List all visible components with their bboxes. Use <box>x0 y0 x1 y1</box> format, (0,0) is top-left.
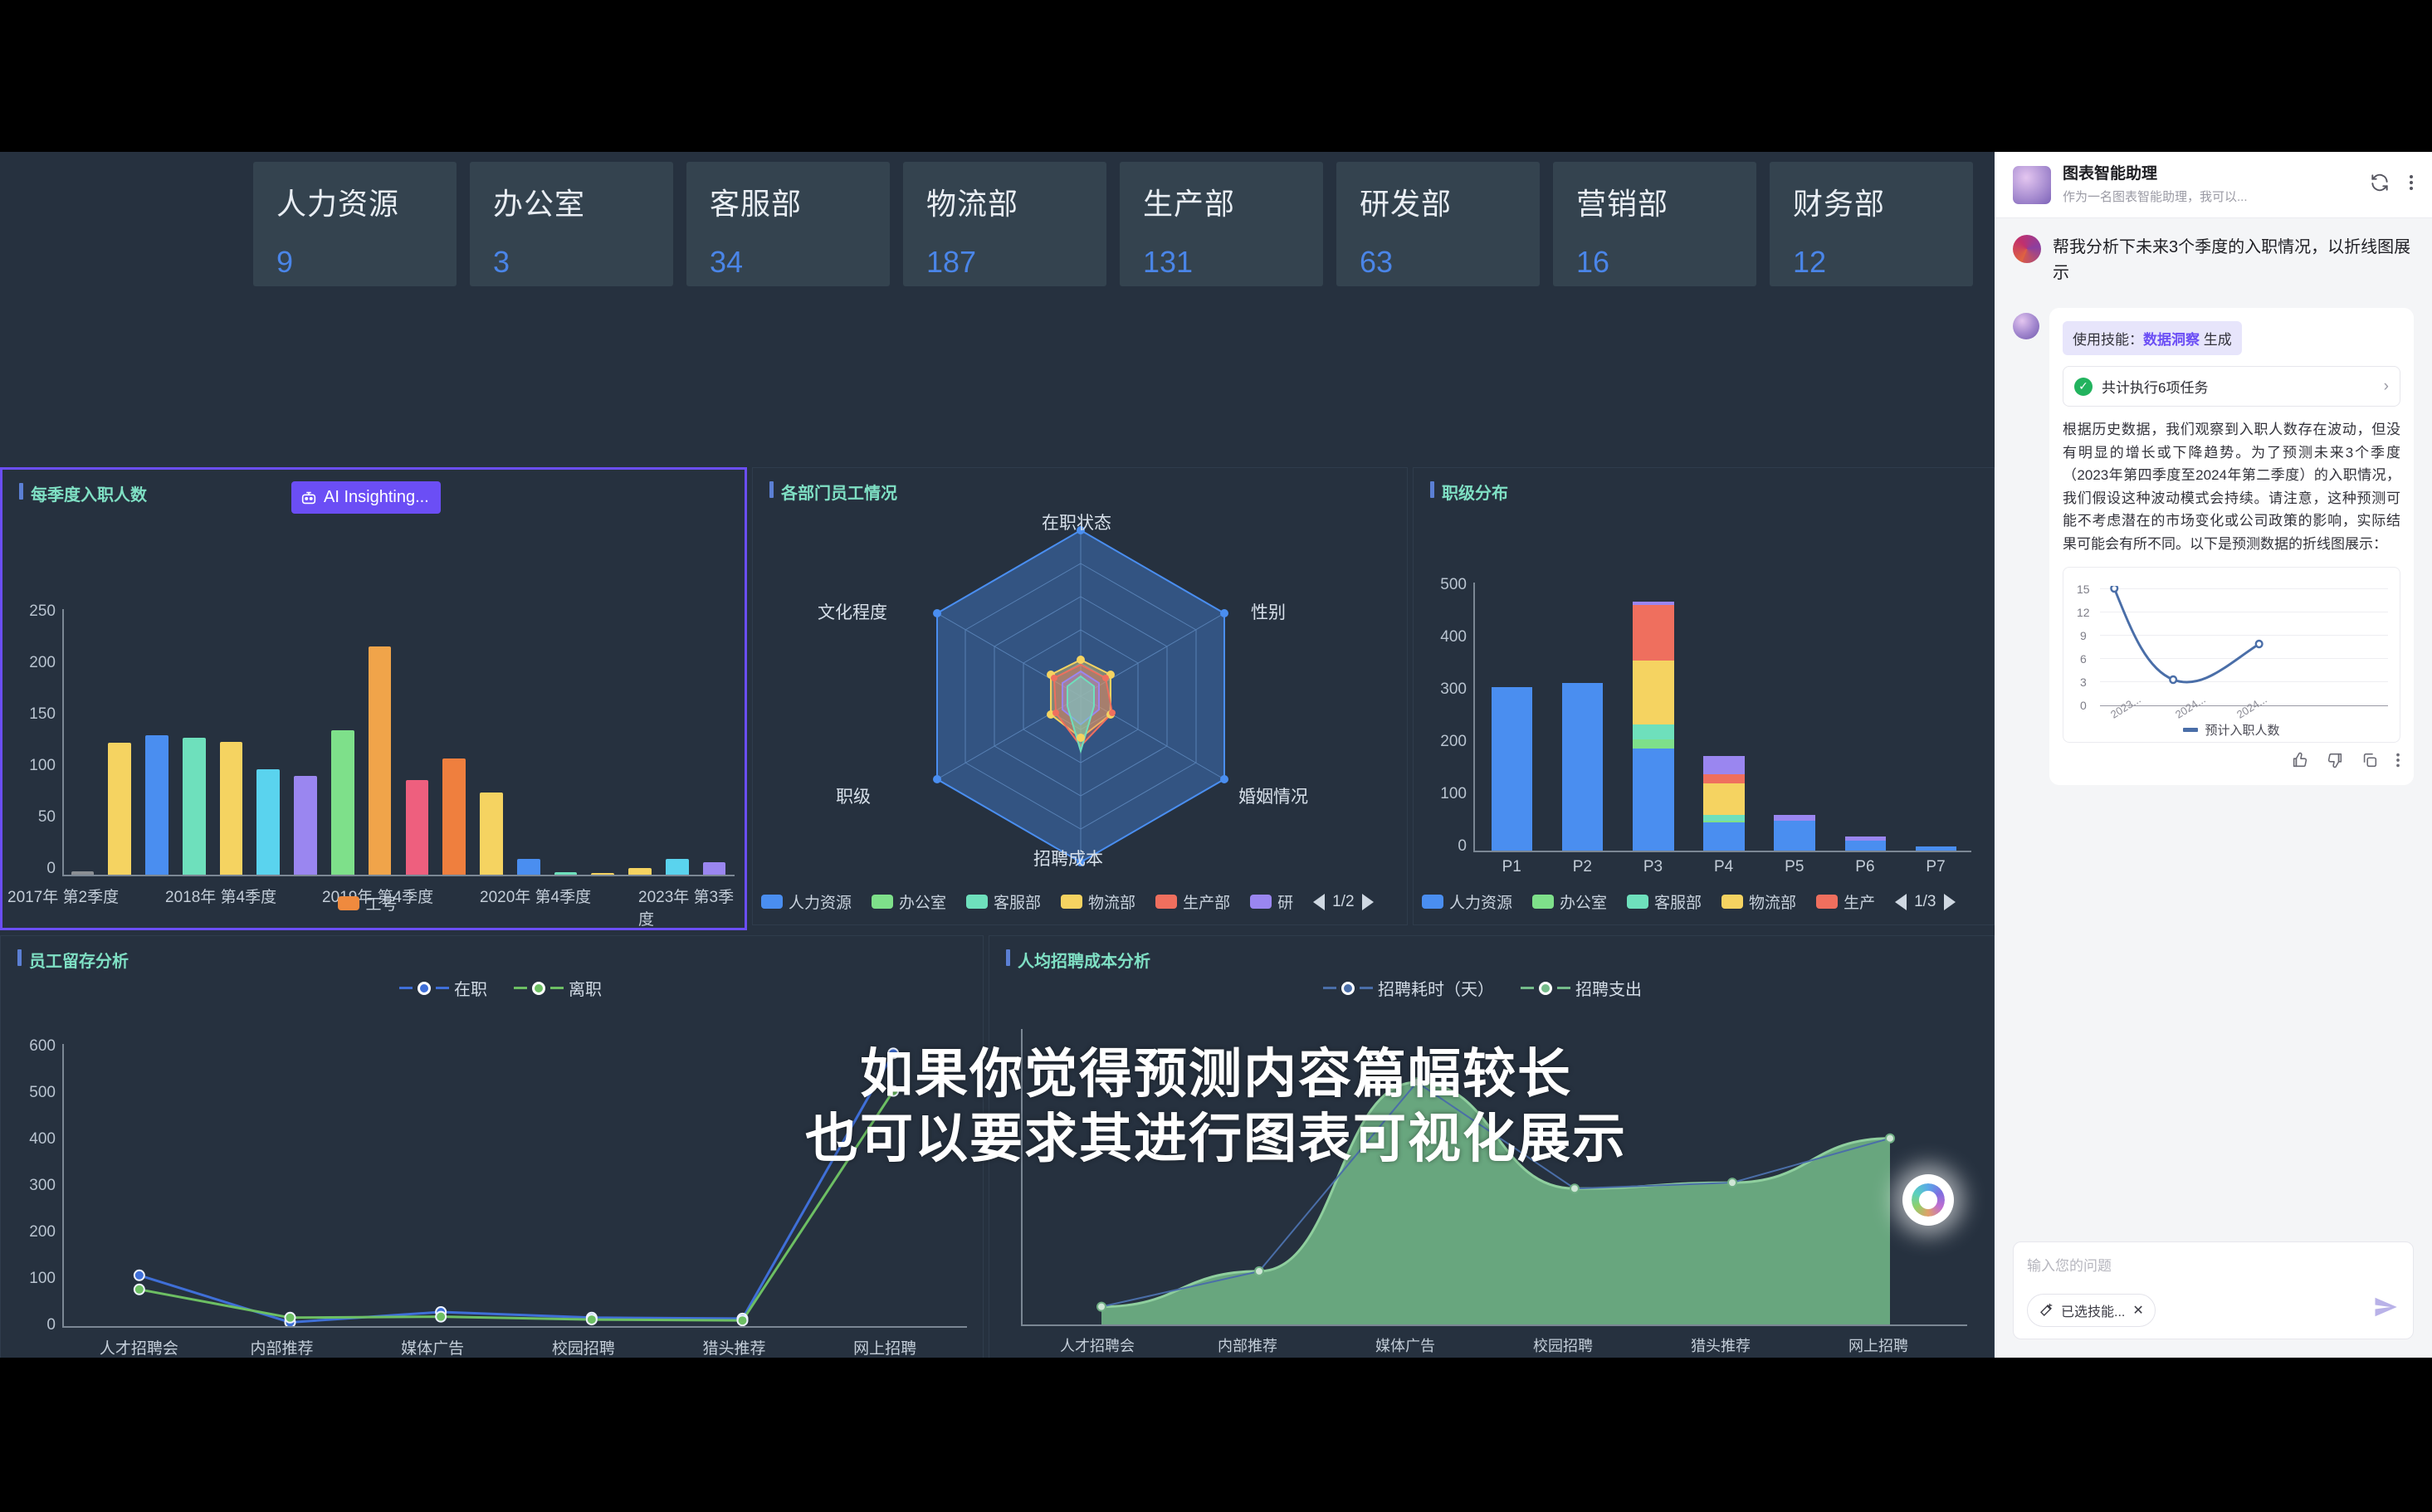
legend-swatch <box>1816 895 1838 909</box>
legend-item[interactable]: 客服部 <box>1627 890 1702 913</box>
legend-dash <box>514 987 527 989</box>
bar[interactable] <box>554 872 578 875</box>
user-message-text: 帮我分析下未来3个季度的入职情况，以折线图展示 <box>2053 235 2414 286</box>
legend-dot <box>1539 982 1552 995</box>
stacked-bar-segment[interactable] <box>1562 683 1603 851</box>
x-tick: 人才招聘会 <box>100 1336 178 1358</box>
legend-swatch <box>2183 728 2198 732</box>
skill-tag: 使用技能：数据洞察 生成 <box>2063 321 2242 355</box>
y-tick: 300 <box>9 1177 56 1195</box>
legend-item[interactable]: 离职 <box>514 976 602 1000</box>
legend-swatch <box>1627 895 1648 909</box>
stacked-bar-segment[interactable] <box>1845 836 1886 841</box>
panel-quarterly-hires[interactable]: 每季度入职人数 AI Insighting... 250 200 150 100… <box>0 467 747 930</box>
y-tick: 6 <box>2080 652 2087 666</box>
panel-title: 人均招聘成本分析 <box>1006 948 1150 972</box>
letterbox-bottom <box>0 1358 2432 1512</box>
legend-label: 物流部 <box>1749 890 1796 913</box>
legend-label: 办公室 <box>899 890 946 913</box>
legend-label: 生产 <box>1844 890 1875 913</box>
y-tick: 200 <box>1422 733 1467 751</box>
bar[interactable] <box>108 743 131 875</box>
legend-item[interactable]: 客服部 <box>966 890 1041 913</box>
x-tick: 网上招聘 <box>853 1336 916 1358</box>
x-axis <box>1473 851 1971 852</box>
stacked-bar-segment[interactable] <box>1845 841 1886 851</box>
bar[interactable] <box>480 793 503 875</box>
y-tick: 250 <box>17 602 56 621</box>
bar[interactable] <box>591 873 614 875</box>
x-tick: P5 <box>1785 858 1804 876</box>
kpi-label: 客服部 <box>710 180 890 223</box>
bar[interactable] <box>183 738 206 875</box>
legend-item[interactable]: 招聘支出 <box>1521 976 1642 1000</box>
radar-axis-label: 职级 <box>836 783 871 808</box>
kpi-card-finance[interactable]: 财务部 12 <box>1770 162 1973 286</box>
bar[interactable] <box>71 871 95 875</box>
x-tick: P4 <box>1714 858 1733 876</box>
legend-swatch <box>1155 895 1177 909</box>
thumbs-up-icon[interactable] <box>2291 751 2309 773</box>
y-tick: 200 <box>9 1223 56 1241</box>
kpi-value: 63 <box>1360 245 1540 280</box>
stacked-bar-group <box>1477 583 1971 851</box>
legend-swatch <box>1532 895 1554 909</box>
copy-icon[interactable] <box>2361 751 2379 773</box>
kpi-value: 131 <box>1143 245 1323 280</box>
y-tick: 15 <box>2077 583 2090 596</box>
y-tick: 0 <box>2080 699 2087 712</box>
x-tick: 人才招聘会 <box>1060 1334 1135 1356</box>
radar-axis-label: 文化程度 <box>818 599 887 624</box>
skill-prefix: 使用技能： <box>2073 332 2143 348</box>
prev-page-icon[interactable] <box>1313 894 1325 910</box>
x-tick: 内部推荐 <box>1218 1334 1277 1356</box>
legend-dot <box>1341 982 1355 995</box>
x-tick: P7 <box>1926 858 1945 876</box>
kpi-card-row: 人力资源 9 办公室 3 客服部 34 物流部 187 生产部 131 研发部 … <box>0 162 1995 295</box>
kpi-value: 12 <box>1793 245 1973 280</box>
radar-chart <box>753 493 1409 883</box>
radar-axis-label: 在职状态 <box>1042 510 1111 534</box>
legend-dash <box>1360 987 1373 989</box>
ai-assistant-panel: 图表智能助理 作为一名图表智能助理，我可以... <box>1995 152 2432 1358</box>
check-icon: ✓ <box>2074 378 2093 396</box>
x-tick: 媒体广告 <box>401 1336 464 1358</box>
legend-label: 人力资源 <box>1449 890 1512 913</box>
user-message: 帮我分析下未来3个季度的入职情况，以折线图展示 <box>2013 235 2414 286</box>
selected-skill-chip[interactable]: 已选技能... ✕ <box>2027 1294 2156 1327</box>
legend-dash <box>399 987 413 989</box>
x-tick: 网上招聘 <box>1848 1334 1908 1356</box>
page-indicator: 1/3 <box>1914 893 1936 911</box>
stacked-bar-segment[interactable] <box>1633 605 1673 661</box>
legend-label: 预计入职人数 <box>2205 721 2279 739</box>
kpi-label: 财务部 <box>1793 180 1973 223</box>
kpi-card-office[interactable]: 办公室 3 <box>470 162 673 286</box>
kpi-value: 16 <box>1576 245 1756 280</box>
legend-item[interactable]: 工号 <box>338 892 397 915</box>
dashboard-canvas: 人力资源 9 办公室 3 客服部 34 物流部 187 生产部 131 研发部 … <box>0 152 1995 1358</box>
legend-dash <box>1521 987 1534 989</box>
kpi-value: 9 <box>276 245 457 280</box>
kpi-value: 187 <box>926 245 1106 280</box>
kpi-value: 3 <box>493 245 673 280</box>
legend-label: 人力资源 <box>789 890 852 913</box>
y-tick: 0 <box>1422 837 1467 856</box>
ai-insighting-badge[interactable]: AI Insighting... <box>291 481 441 514</box>
kpi-label: 人力资源 <box>276 180 457 223</box>
magic-wand-icon <box>2039 1303 2054 1318</box>
kpi-value: 34 <box>710 245 890 280</box>
y-tick: 12 <box>2077 606 2090 619</box>
radar-axis-label: 性别 <box>1251 599 1286 624</box>
legend-swatch <box>1721 895 1743 909</box>
legend-cost: 招聘耗时（天） 招聘支出 <box>989 976 1994 1000</box>
page-indicator: 1/2 <box>1332 893 1354 911</box>
x-tick: P3 <box>1643 858 1663 876</box>
bar[interactable] <box>442 758 466 875</box>
bar[interactable] <box>628 868 652 875</box>
kpi-label: 研发部 <box>1360 180 1540 223</box>
chat-input-placeholder[interactable]: 输入您的问题 <box>2027 1254 2400 1275</box>
stacked-bar-segment[interactable] <box>1633 739 1673 749</box>
legend-item[interactable]: 物流部 <box>1061 890 1135 913</box>
y-tick: 3 <box>2080 676 2087 689</box>
x-axis <box>62 875 735 876</box>
stacked-bar-segment[interactable] <box>1774 821 1814 851</box>
legend-label: 在职 <box>454 976 487 1000</box>
bar[interactable] <box>294 776 317 875</box>
subtitle-line-2: 也可以要求其进行图表可视化展示 <box>0 1106 2432 1171</box>
stacked-bar-segment[interactable] <box>1703 822 1744 851</box>
assistant-bubble: 使用技能：数据洞察 生成 ✓ 共计执行6项任务 › 根据历史数据，我们观察到入职… <box>2049 308 2414 785</box>
y-tick: 200 <box>17 654 56 672</box>
legend-item[interactable]: 办公室 <box>1532 890 1607 913</box>
bar[interactable] <box>406 780 429 875</box>
legend-dash <box>550 987 564 989</box>
stacked-bar-segment[interactable] <box>1633 749 1673 851</box>
x-tick: 校园招聘 <box>552 1336 615 1358</box>
legend-departments-level: 人力资源办公室客服部物流部生产1/3 <box>1422 890 1956 913</box>
tasks-label: 共计执行6项任务 <box>2102 376 2208 397</box>
x-tick: P6 <box>1855 858 1874 876</box>
stacked-bar-segment[interactable] <box>1492 687 1532 851</box>
legend-swatch <box>966 895 988 909</box>
panel-title: 职级分布 <box>1430 480 1508 504</box>
legend-label: 研 <box>1277 890 1293 913</box>
bar-series-group <box>64 609 733 875</box>
assistant-title: 图表智能助理 <box>2063 164 2248 185</box>
assistant-avatar-small <box>2013 313 2039 339</box>
kpi-card-hr[interactable]: 人力资源 9 <box>253 162 457 286</box>
robot-icon <box>300 489 318 507</box>
legend-swatch <box>761 895 783 909</box>
y-tick: 150 <box>17 705 56 724</box>
more-icon[interactable] <box>2409 173 2414 197</box>
legend-retention: 在职 离职 <box>399 976 620 1000</box>
panel-job-level-distribution[interactable]: 职级分布 500 400 300 200 100 0 P1P2P3P4P5P6P… <box>1413 467 1995 925</box>
legend-swatch <box>1250 895 1272 909</box>
prev-page-icon[interactable] <box>1895 894 1907 910</box>
legend-dot <box>418 982 431 995</box>
legend-swatch <box>1422 895 1443 909</box>
selected-skill-label: 已选技能... <box>2061 1300 2125 1320</box>
legend-label: 招聘耗时（天） <box>1378 976 1494 1000</box>
y-tick: 0 <box>9 1316 56 1334</box>
kpi-label: 生产部 <box>1143 180 1323 223</box>
legend-swatch <box>1061 895 1082 909</box>
x-tick: 内部推荐 <box>251 1336 314 1358</box>
y-tick: 100 <box>9 1270 56 1288</box>
legend-pager[interactable]: 1/3 <box>1895 893 1955 911</box>
next-page-icon[interactable] <box>1362 894 1374 910</box>
legend-label: 招聘支出 <box>1575 976 1642 1000</box>
stacked-bar-segment[interactable] <box>1633 661 1673 724</box>
assistant-avatar <box>2013 166 2051 204</box>
legend-label: 生产部 <box>1183 890 1230 913</box>
assistant-answer-text: 根据历史数据，我们观察到入职人数存在波动，但没有明显的增长或下降趋势。为了预测未… <box>2063 418 2400 555</box>
x-tick: P2 <box>1573 858 1592 876</box>
send-icon[interactable] <box>2373 1295 2398 1325</box>
next-page-icon[interactable] <box>1944 894 1956 910</box>
stacked-bar-segment[interactable] <box>1703 756 1744 775</box>
legend-swatch <box>872 895 893 909</box>
user-avatar <box>2013 235 2041 263</box>
bar[interactable] <box>331 730 354 875</box>
legend-item[interactable]: 人力资源 <box>1422 890 1512 913</box>
forecast-curve <box>2100 586 2291 706</box>
legend-label: 客服部 <box>1654 890 1702 913</box>
bar[interactable] <box>145 735 168 875</box>
legend-swatch <box>338 896 359 910</box>
subtitle-line-1: 如果你觉得预测内容篇幅较长 <box>0 1041 2432 1106</box>
kpi-card-marketing[interactable]: 营销部 16 <box>1553 162 1756 286</box>
bar[interactable] <box>369 646 392 875</box>
kpi-label: 营销部 <box>1576 180 1756 223</box>
legend-dot <box>532 982 545 995</box>
legend-item[interactable]: 生产部 <box>1155 890 1230 913</box>
stacked-bar-segment[interactable] <box>1703 821 1744 823</box>
legend-label: 物流部 <box>1088 890 1135 913</box>
legend-item[interactable]: 办公室 <box>872 890 946 913</box>
stacked-bar-segment[interactable] <box>1703 774 1744 783</box>
tasks-summary-row[interactable]: ✓ 共计执行6项任务 › <box>2063 366 2400 407</box>
chevron-right-icon: › <box>2384 378 2389 396</box>
stacked-bar-segment[interactable] <box>1774 815 1814 822</box>
ai-insighting-label: AI Insighting... <box>324 488 429 507</box>
bar[interactable] <box>517 859 540 875</box>
legend-label: 办公室 <box>1560 890 1607 913</box>
kpi-label: 办公室 <box>493 180 673 223</box>
y-axis <box>1473 583 1475 852</box>
legend-item[interactable]: 在职 <box>399 976 487 1000</box>
x-tick: 校园招聘 <box>1533 1334 1593 1356</box>
ai-orb-icon <box>1912 1183 1945 1217</box>
legend-item[interactable]: 生产 <box>1816 890 1875 913</box>
refresh-icon[interactable] <box>2369 172 2390 198</box>
skill-suffix: 生成 <box>2204 332 2232 348</box>
legend-pager[interactable]: 1/2 <box>1313 893 1373 911</box>
panel-title: 员工留存分析 <box>17 948 129 972</box>
assistant-subtitle: 作为一名图表智能助理，我可以... <box>2063 188 2248 205</box>
legend-dash <box>436 987 449 989</box>
bar[interactable] <box>256 769 280 875</box>
y-tick: 100 <box>17 757 56 775</box>
assistant-header: 图表智能助理 作为一名图表智能助理，我可以... <box>1995 152 2432 218</box>
bar[interactable] <box>703 862 726 875</box>
legend-departments: 人力资源办公室客服部物流部生产部研1/2 <box>761 890 1374 913</box>
x-tick: 猎头推荐 <box>1691 1334 1751 1356</box>
legend-item[interactable]: 人力资源 <box>761 890 852 913</box>
x-tick: 猎头推荐 <box>703 1336 766 1358</box>
kpi-label: 物流部 <box>926 180 1106 223</box>
bar[interactable] <box>220 742 243 875</box>
letterbox-top <box>0 0 2432 152</box>
stacked-bar-segment[interactable] <box>1633 602 1673 605</box>
stacked-bar-segment[interactable] <box>1703 815 1744 820</box>
radar-axis-label: 婚姻情况 <box>1238 783 1308 808</box>
kpi-card-production[interactable]: 生产部 131 <box>1120 162 1323 286</box>
kpi-card-logistics[interactable]: 物流部 187 <box>903 162 1106 286</box>
forecast-legend: 预计入职人数 <box>2063 721 2400 739</box>
panel-department-employees[interactable]: 各部门员工情况 <box>752 467 1408 925</box>
chat-input-area[interactable]: 输入您的问题 已选技能... ✕ <box>2013 1241 2414 1339</box>
x-tick: 媒体广告 <box>1375 1334 1435 1356</box>
y-tick: 300 <box>1422 680 1467 699</box>
panel-title: 每季度入职人数 <box>19 481 147 505</box>
legend-dash <box>1557 987 1570 989</box>
y-tick: 50 <box>17 808 56 827</box>
message-feedback-bar <box>2063 751 2400 773</box>
legend-label: 工号 <box>365 892 397 915</box>
legend-label: 离职 <box>569 976 602 1000</box>
x-axis <box>62 1326 967 1328</box>
screen: 人力资源 9 办公室 3 客服部 34 物流部 187 生产部 131 研发部 … <box>0 0 2432 1512</box>
application-window: 人力资源 9 办公室 3 客服部 34 物流部 187 生产部 131 研发部 … <box>0 152 2432 1358</box>
y-tick: 100 <box>1422 785 1467 803</box>
stacked-bar-segment[interactable] <box>1916 846 1956 851</box>
thumbs-down-icon[interactable] <box>2326 751 2344 773</box>
legend-quarterly-hires: 工号 <box>2 892 745 915</box>
y-tick: 0 <box>17 860 56 878</box>
x-axis <box>1021 1324 1967 1326</box>
subtitle-overlay: 如果你觉得预测内容篇幅较长 也可以要求其进行图表可视化展示 <box>0 1041 2432 1171</box>
stacked-bar-segment[interactable] <box>1633 724 1673 739</box>
y-tick: 500 <box>1422 576 1467 594</box>
ai-orb-badge[interactable] <box>1902 1174 1954 1226</box>
legend-dash <box>1323 987 1336 989</box>
more-icon[interactable] <box>2395 751 2400 773</box>
legend-item[interactable]: 研 <box>1250 890 1293 913</box>
legend-item[interactable]: 物流部 <box>1721 890 1796 913</box>
assistant-message: 使用技能：数据洞察 生成 ✓ 共计执行6项任务 › 根据历史数据，我们观察到入职… <box>2013 308 2414 785</box>
kpi-card-rd[interactable]: 研发部 63 <box>1336 162 1540 286</box>
kpi-card-service[interactable]: 客服部 34 <box>686 162 890 286</box>
skill-name: 数据洞察 <box>2143 332 2200 348</box>
forecast-line-chart[interactable]: 15 12 9 6 3 0 <box>2063 567 2400 743</box>
legend-label: 客服部 <box>994 890 1041 913</box>
y-tick: 400 <box>1422 628 1467 646</box>
x-tick: P1 <box>1502 858 1521 876</box>
y-tick: 9 <box>2080 629 2087 642</box>
close-icon[interactable]: ✕ <box>2132 1302 2143 1319</box>
legend-item[interactable]: 招聘耗时（天） <box>1323 976 1494 1000</box>
bar[interactable] <box>666 859 689 875</box>
stacked-bar-segment[interactable] <box>1703 783 1744 816</box>
radar-axis-label: 招聘成本 <box>1033 846 1103 871</box>
